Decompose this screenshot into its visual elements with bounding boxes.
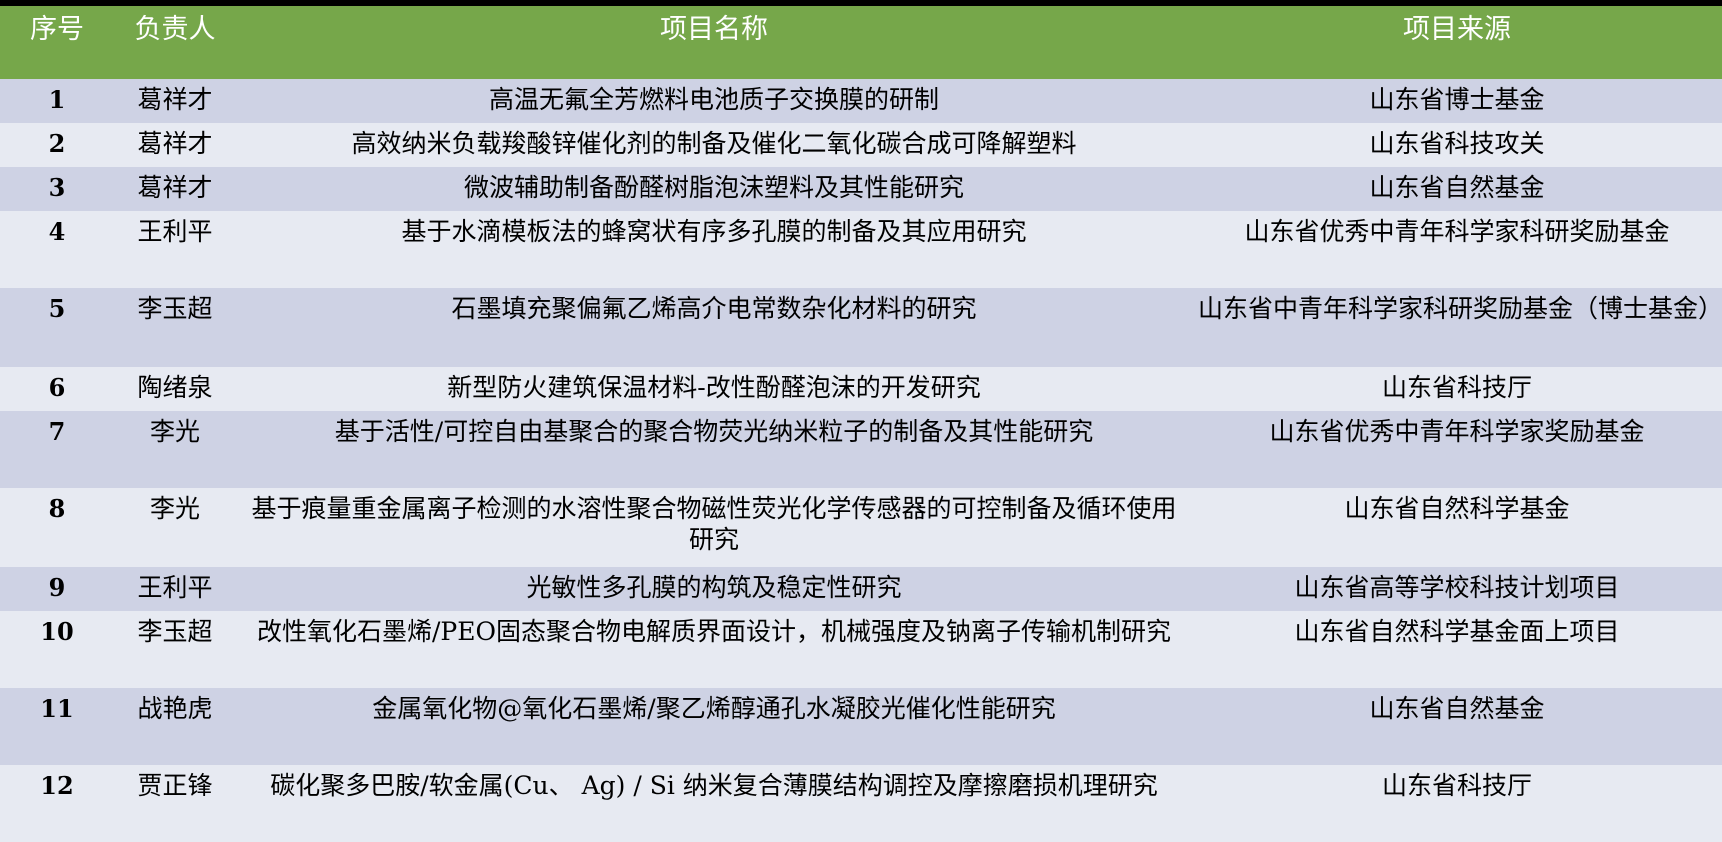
- cell-name: 高效纳米负载羧酸锌催化剂的制备及催化二氧化碳合成可降解塑料: [236, 123, 1192, 167]
- cell-name: 碳化聚多巴胺/软金属(Cu、 Ag) / Si 纳米复合薄膜结构调控及摩擦磨损机…: [236, 765, 1192, 842]
- cell-owner: 贾正锋: [114, 765, 236, 842]
- cell-source: 山东省自然科学基金: [1192, 488, 1722, 567]
- cell-owner: 葛祥才: [114, 123, 236, 167]
- table-row: 6陶绪泉新型防火建筑保温材料-改性酚醛泡沫的开发研究山东省科技厅: [0, 367, 1722, 411]
- cell-owner: 李玉超: [114, 288, 236, 367]
- cell-owner: 战艳虎: [114, 688, 236, 765]
- cell-seq: 1: [0, 79, 114, 123]
- cell-owner: 葛祥才: [114, 167, 236, 211]
- cell-source: 山东省自然基金: [1192, 167, 1722, 211]
- cell-source: 山东省优秀中青年科学家科研奖励基金: [1192, 211, 1722, 288]
- cell-seq: 4: [0, 211, 114, 288]
- cell-name: 石墨填充聚偏氟乙烯高介电常数杂化材料的研究: [236, 288, 1192, 367]
- cell-seq: 3: [0, 167, 114, 211]
- cell-source: 山东省优秀中青年科学家奖励基金: [1192, 411, 1722, 488]
- table-row: 8李光基于痕量重金属离子检测的水溶性聚合物磁性荧光化学传感器的可控制备及循环使用…: [0, 488, 1722, 567]
- cell-owner: 陶绪泉: [114, 367, 236, 411]
- column-header-name: 项目名称: [236, 6, 1192, 79]
- cell-source: 山东省科技攻关: [1192, 123, 1722, 167]
- cell-owner: 李光: [114, 488, 236, 567]
- table-row: 2葛祥才高效纳米负载羧酸锌催化剂的制备及催化二氧化碳合成可降解塑料山东省科技攻关: [0, 123, 1722, 167]
- table-row: 9王利平光敏性多孔膜的构筑及稳定性研究山东省高等学校科技计划项目: [0, 567, 1722, 611]
- cell-name: 新型防火建筑保温材料-改性酚醛泡沫的开发研究: [236, 367, 1192, 411]
- cell-name: 微波辅助制备酚醛树脂泡沫塑料及其性能研究: [236, 167, 1192, 211]
- cell-owner: 葛祥才: [114, 79, 236, 123]
- cell-name: 基于水滴模板法的蜂窝状有序多孔膜的制备及其应用研究: [236, 211, 1192, 288]
- table-container: 序号 负责人 项目名称 项目来源 1葛祥才高温无氟全芳燃料电池质子交换膜的研制山…: [0, 0, 1722, 723]
- cell-name: 光敏性多孔膜的构筑及稳定性研究: [236, 567, 1192, 611]
- table-row: 7李光基于活性/可控自由基聚合的聚合物荧光纳米粒子的制备及其性能研究山东省优秀中…: [0, 411, 1722, 488]
- cell-source: 山东省科技厅: [1192, 367, 1722, 411]
- column-header-seq: 序号: [0, 6, 114, 79]
- cell-source: 山东省自然科学基金面上项目: [1192, 611, 1722, 688]
- cell-seq: 2: [0, 123, 114, 167]
- cell-name: 高温无氟全芳燃料电池质子交换膜的研制: [236, 79, 1192, 123]
- cell-seq: 9: [0, 567, 114, 611]
- cell-name: 金属氧化物@氧化石墨烯/聚乙烯醇通孔水凝胶光催化性能研究: [236, 688, 1192, 765]
- column-header-source: 项目来源: [1192, 6, 1722, 79]
- table-row: 3葛祥才微波辅助制备酚醛树脂泡沫塑料及其性能研究山东省自然基金: [0, 167, 1722, 211]
- cell-name: 基于痕量重金属离子检测的水溶性聚合物磁性荧光化学传感器的可控制备及循环使用研究: [236, 488, 1192, 567]
- cell-owner: 王利平: [114, 567, 236, 611]
- cell-owner: 李玉超: [114, 611, 236, 688]
- table-body: 1葛祥才高温无氟全芳燃料电池质子交换膜的研制山东省博士基金2葛祥才高效纳米负载羧…: [0, 79, 1722, 842]
- cell-source: 山东省高等学校科技计划项目: [1192, 567, 1722, 611]
- cell-name: 基于活性/可控自由基聚合的聚合物荧光纳米粒子的制备及其性能研究: [236, 411, 1192, 488]
- table-row: 11战艳虎金属氧化物@氧化石墨烯/聚乙烯醇通孔水凝胶光催化性能研究山东省自然基金: [0, 688, 1722, 765]
- table-row: 12贾正锋碳化聚多巴胺/软金属(Cu、 Ag) / Si 纳米复合薄膜结构调控及…: [0, 765, 1722, 842]
- cell-seq: 11: [0, 688, 114, 765]
- table-row: 10李玉超改性氧化石墨烯/PEO固态聚合物电解质界面设计，机械强度及钠离子传输机…: [0, 611, 1722, 688]
- table-row: 5李玉超石墨填充聚偏氟乙烯高介电常数杂化材料的研究山东省中青年科学家科研奖励基金…: [0, 288, 1722, 367]
- project-table: 序号 负责人 项目名称 项目来源 1葛祥才高温无氟全芳燃料电池质子交换膜的研制山…: [0, 6, 1722, 842]
- cell-source: 山东省自然基金: [1192, 688, 1722, 765]
- table-header: 序号 负责人 项目名称 项目来源: [0, 6, 1722, 79]
- column-header-owner: 负责人: [114, 6, 236, 79]
- cell-source: 山东省中青年科学家科研奖励基金（博士基金）: [1192, 288, 1722, 367]
- cell-seq: 12: [0, 765, 114, 842]
- cell-seq: 10: [0, 611, 114, 688]
- table-row: 4王利平基于水滴模板法的蜂窝状有序多孔膜的制备及其应用研究山东省优秀中青年科学家…: [0, 211, 1722, 288]
- table-row: 1葛祥才高温无氟全芳燃料电池质子交换膜的研制山东省博士基金: [0, 79, 1722, 123]
- cell-source: 山东省博士基金: [1192, 79, 1722, 123]
- cell-seq: 5: [0, 288, 114, 367]
- cell-source: 山东省科技厅: [1192, 765, 1722, 842]
- header-row: 序号 负责人 项目名称 项目来源: [0, 6, 1722, 79]
- cell-seq: 6: [0, 367, 114, 411]
- cell-seq: 7: [0, 411, 114, 488]
- cell-seq: 8: [0, 488, 114, 567]
- cell-owner: 王利平: [114, 211, 236, 288]
- cell-name: 改性氧化石墨烯/PEO固态聚合物电解质界面设计，机械强度及钠离子传输机制研究: [236, 611, 1192, 688]
- cell-owner: 李光: [114, 411, 236, 488]
